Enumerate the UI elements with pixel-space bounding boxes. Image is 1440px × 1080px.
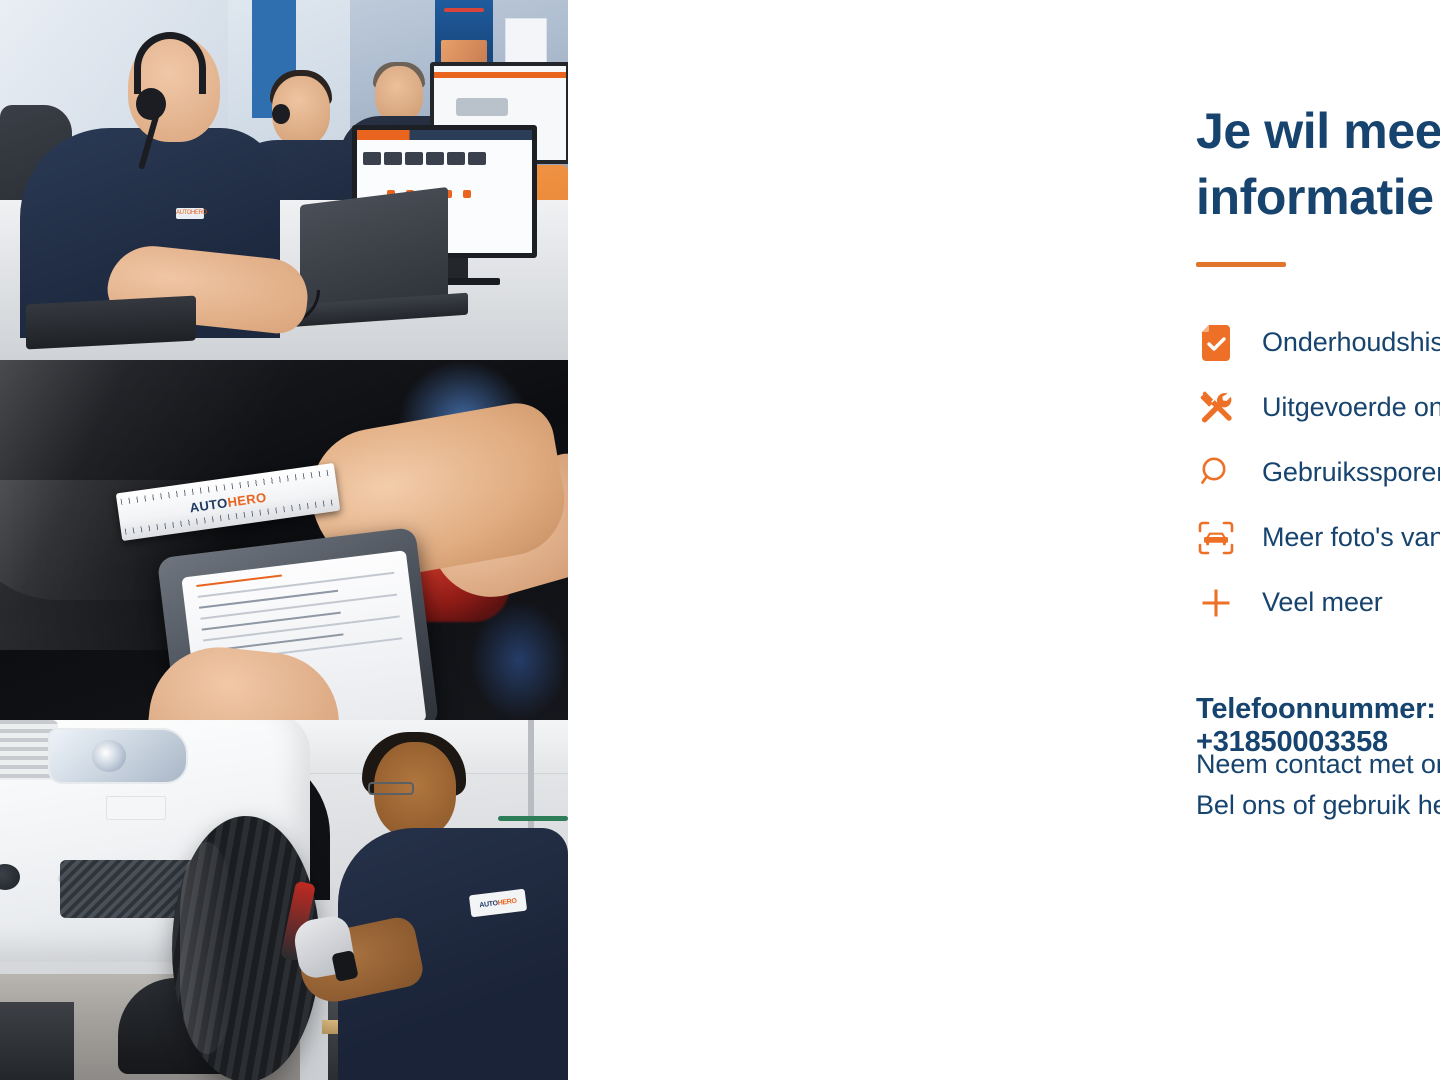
feature-label: Gebruikssporen xyxy=(1262,457,1440,488)
page-title: Je wil meer informatie over: xyxy=(1196,98,1440,230)
wrench-screwdriver-icon xyxy=(1196,388,1236,428)
photo-column: AUTOHERO AUTOHERO xyxy=(0,0,568,1080)
feature-item-foto-s: Meer foto's van de auto xyxy=(1196,505,1440,570)
agent-1-headset-band xyxy=(134,32,206,94)
blue-reflection-2 xyxy=(470,600,568,720)
plus-icon xyxy=(1196,583,1236,623)
call-centre-agents-photo: AUTOHERO xyxy=(0,0,568,360)
agent-1-logo-badge: AUTOHERO xyxy=(176,208,204,219)
headline-line-2: informatie over: xyxy=(1196,169,1440,225)
feature-item-gebruikssporen: Gebruikssporen xyxy=(1196,440,1440,505)
accent-divider xyxy=(1196,262,1286,267)
feature-item-werkzaamheden: Uitgevoerde onderhoudswerkzaamheden xyxy=(1196,375,1440,440)
contact-line-2: Bel ons of gebruik het contactformulier. xyxy=(1196,790,1440,820)
feature-label: Onderhoudshistorie xyxy=(1262,327,1440,358)
feature-item-onderhoudshistorie: Onderhoudshistorie xyxy=(1196,310,1440,375)
headline-line-1: Je wil meer xyxy=(1196,103,1440,159)
technician-glasses xyxy=(368,782,414,795)
vehicle-inspection-ruler-photo: AUTOHERO xyxy=(0,360,568,720)
feature-label: Veel meer xyxy=(1262,587,1383,618)
feature-list: Onderhoudshistorie Uitgevoerde onderhoud… xyxy=(1196,310,1440,635)
magnifier-icon xyxy=(1196,453,1236,493)
desk-tablet xyxy=(26,296,196,350)
headlight xyxy=(48,728,188,784)
tool-cabinet-left xyxy=(0,1002,74,1080)
promo-banner: AUTOHERO AUTOHERO xyxy=(0,0,1440,1080)
number-plate-recess xyxy=(106,796,166,820)
listing-thumbnails xyxy=(363,152,486,165)
tyre-service-technician-photo: AUTOHERO xyxy=(0,720,568,1080)
feature-item-veel-meer: Veel meer xyxy=(1196,570,1440,635)
car-scan-icon xyxy=(1196,518,1236,558)
feature-label: Meer foto's van de auto xyxy=(1262,522,1440,553)
document-check-icon xyxy=(1196,323,1236,363)
green-hose xyxy=(498,816,568,821)
content-panel: Je wil meer informatie over: We geven je… xyxy=(568,0,1440,1080)
contact-instructions: Neem contact met ons op voor meer inform… xyxy=(1196,744,1440,826)
agent-2-headset-earcup xyxy=(272,104,290,124)
agent-1-headset-earcup xyxy=(136,88,166,120)
contact-line-1: Neem contact met ons op voor meer inform… xyxy=(1196,749,1440,779)
feature-label: Uitgevoerde onderhoudswerkzaamheden xyxy=(1262,392,1440,423)
poster-headline xyxy=(444,8,484,12)
